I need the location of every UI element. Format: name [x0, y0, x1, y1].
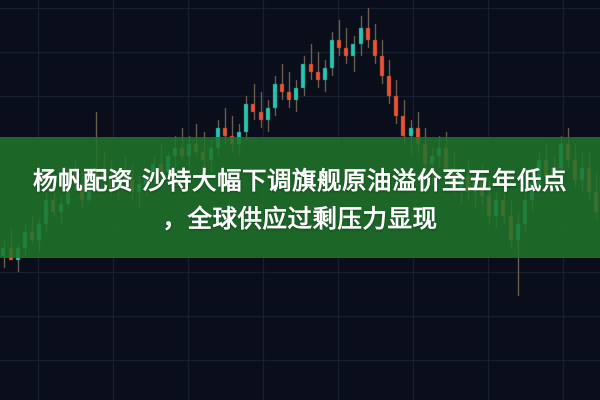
- headline-line-1: 杨帆配资 沙特大幅下调旗舰原油溢价至五年低点: [33, 164, 567, 198]
- screenshot-stage: 杨帆配资 沙特大幅下调旗舰原油溢价至五年低点 ，全球供应过剩压力显现: [0, 0, 600, 400]
- headline-line-2: ，全球供应过剩压力显现: [163, 202, 438, 236]
- headline-banner: 杨帆配资 沙特大幅下调旗舰原油溢价至五年低点 ，全球供应过剩压力显现: [0, 137, 600, 258]
